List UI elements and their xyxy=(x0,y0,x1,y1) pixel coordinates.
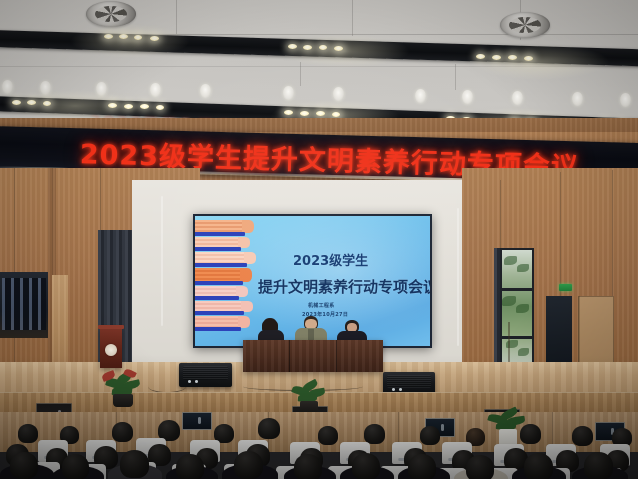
audience-head xyxy=(408,454,436,479)
audience-head xyxy=(524,453,553,479)
audience-head xyxy=(572,426,593,446)
slide-title-line1: 2023级学生 xyxy=(293,250,368,269)
lectern xyxy=(100,328,122,368)
lectern-emblem xyxy=(105,344,117,356)
downlight-row-lower xyxy=(0,0,638,128)
audience-head xyxy=(10,452,38,479)
audience-head xyxy=(120,450,149,478)
head-table xyxy=(243,340,383,372)
window-foliage xyxy=(500,248,534,370)
auditorium-photo: 2023级学生提升文明素养行动专项会议 2023级学生提升文明素养行动专项会议 xyxy=(0,0,638,479)
side-door xyxy=(578,296,614,372)
audience-area xyxy=(0,414,638,479)
wall-pillar-left xyxy=(52,275,68,370)
audience-head xyxy=(112,422,133,442)
audience-head xyxy=(318,426,338,445)
slide-department: 机械工程系 xyxy=(308,302,335,309)
slide-title-line2: 提升文明素养行动专项会议 xyxy=(258,276,430,297)
left-wall-grille xyxy=(2,278,46,330)
audience-head xyxy=(420,426,440,445)
audience-head xyxy=(18,424,38,443)
audience-head xyxy=(258,418,280,439)
stage-plant-center xyxy=(286,378,332,416)
stage-plant-left xyxy=(98,368,146,408)
audience-head xyxy=(234,451,263,479)
audience-head xyxy=(176,454,204,479)
door-dark-inset xyxy=(546,296,572,366)
planter xyxy=(113,394,133,407)
audience-head xyxy=(364,424,385,444)
audience-head xyxy=(584,452,613,479)
wall-seam-left xyxy=(161,196,163,326)
wall-seam-right xyxy=(457,208,459,346)
stage-monitor-speaker-left xyxy=(179,363,232,387)
audience-head xyxy=(466,455,494,479)
head-table-group xyxy=(243,318,383,370)
audience-head xyxy=(520,424,541,444)
exit-sign xyxy=(559,284,572,291)
audience-head xyxy=(62,454,89,479)
audience-head xyxy=(352,453,380,479)
audience-head xyxy=(294,454,322,479)
